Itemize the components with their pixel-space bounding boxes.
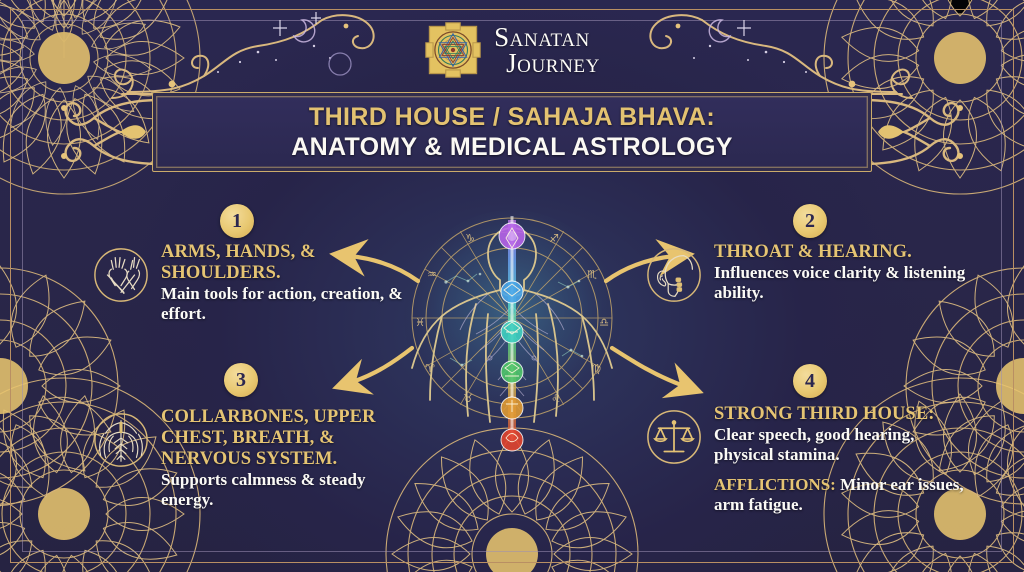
svg-text:♐: ♐	[549, 232, 559, 245]
scroll-ornament-left-icon	[34, 92, 164, 172]
block-1-body: Main tools for action, creation, & effor…	[161, 284, 422, 325]
brand-line-1: Sanatan	[494, 24, 600, 50]
title-line-1: THIRD HOUSE / SAHAJA BHAVA:	[309, 103, 715, 132]
content-block-1: 1 ARMS, HANDS, & SHOULDERS. Main tools f…	[92, 240, 422, 325]
chakra-body-zodiac-illustration: ♑♐ ♒♏ ♓♎ ♈♍ ♉♌ ♊♋	[390, 186, 634, 486]
title-banner: THIRD HOUSE / SAHAJA BHAVA: ANATOMY & ME…	[152, 92, 872, 172]
scroll-ornament-right-icon	[860, 92, 990, 172]
head-ear-throat-icon	[645, 246, 703, 304]
hands-icon	[92, 246, 150, 304]
title-line-2: ANATOMY & MEDICAL ASTROLOGY	[291, 133, 732, 162]
block-2-heading: THROAT & HEARING.	[714, 242, 975, 263]
brand-line-2: Journey	[494, 50, 600, 76]
block-3-body: Supports calmness & steady energy.	[161, 470, 422, 511]
brand-name: Sanatan Journey	[494, 24, 600, 76]
badge-number-3: 3	[224, 363, 258, 397]
page-title: THIRD HOUSE / SAHAJA BHAVA: ANATOMY & ME…	[152, 92, 872, 172]
badge-number-2: 2	[793, 204, 827, 238]
block-4-paragraph-2: AFFLICTIONS: Minor ear issues, arm fatig…	[714, 475, 975, 516]
block-2-body: Influences voice clarity & listening abi…	[714, 263, 975, 304]
svg-text:♑: ♑	[465, 232, 475, 245]
scales-balance-icon	[645, 408, 703, 466]
svg-text:♉: ♉	[463, 392, 473, 405]
content-block-4: 4 STRONG THIRD HOUSE: Clear	[645, 402, 975, 515]
svg-text:♏: ♏	[587, 268, 597, 281]
badge-number-1: 1	[220, 204, 254, 238]
block-3-heading: COLLARBONES, UPPER CHEST, BREATH, & NERV…	[161, 407, 422, 470]
svg-text:♈: ♈	[425, 362, 435, 375]
content-block-2: 2 TH	[645, 240, 975, 304]
block-4-heading-2: AFFLICTIONS:	[714, 475, 836, 494]
svg-text:♒: ♒	[427, 268, 437, 281]
infographic-canvas: Sanatan Journey THIRD HOUSE / SAH	[0, 0, 1024, 572]
brand-header: Sanatan Journey	[0, 12, 1024, 88]
svg-text:♎: ♎	[599, 316, 609, 329]
svg-text:♌: ♌	[551, 392, 561, 405]
block-4-body: Clear speech, good hearing, physical sta…	[714, 425, 975, 466]
block-4-heading: STRONG THIRD HOUSE:	[714, 404, 975, 425]
block-1-heading: ARMS, HANDS, & SHOULDERS.	[161, 242, 422, 284]
sri-yantra-icon	[424, 21, 482, 79]
content-block-3: 3 COLLARBONES, UPPER CHEST, BREATH, & NE…	[92, 405, 422, 510]
badge-number-4: 4	[793, 364, 827, 398]
lungs-nervous-system-icon	[92, 411, 150, 469]
